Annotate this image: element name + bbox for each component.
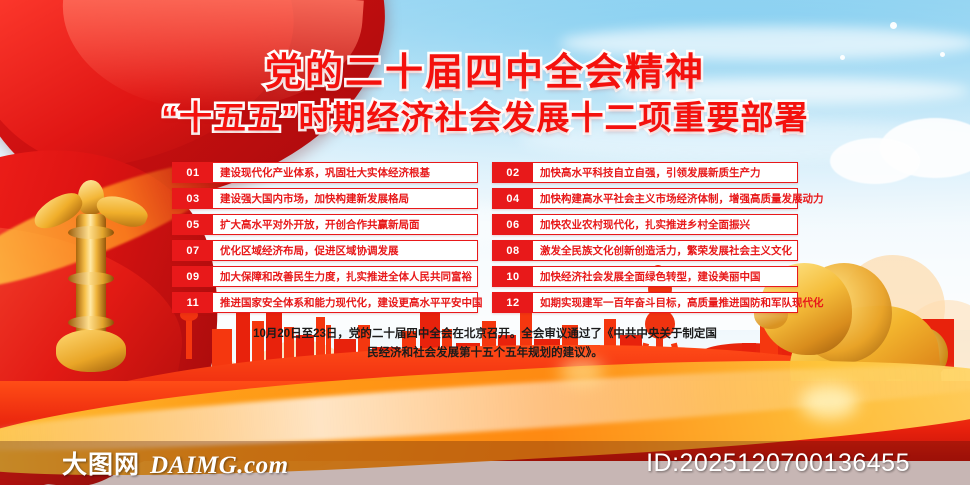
list-item-label: 推进国家安全体系和能力现代化，建设更高水平平安中国 bbox=[213, 293, 486, 312]
list-item[interactable]: 07 优化区域经济布局，促进区域协调发展 bbox=[172, 240, 478, 261]
title-block: 党的二十届四中全会精神 “十五五”时期经济社会发展十二项重要部署 bbox=[0, 52, 970, 137]
list-item-label: 激发全民族文化创新创造活力，繁荣发展社会主义文化 bbox=[533, 241, 797, 260]
list-item-number: 08 bbox=[493, 241, 533, 260]
list-item-number: 07 bbox=[173, 241, 213, 260]
list-item[interactable]: 09 加大保障和改善民生力度，扎实推进全体人民共同富裕 bbox=[172, 266, 478, 287]
watermark-site-en: DAIMG.com bbox=[150, 452, 289, 480]
list-item-number: 09 bbox=[173, 267, 213, 286]
list-item-number: 06 bbox=[493, 215, 533, 234]
list-item-number: 12 bbox=[493, 293, 533, 312]
caption-block: 10月20日至23日，党的二十届四中全会在北京召开。全会审议通过了《中共中央关于… bbox=[225, 325, 745, 363]
list-item[interactable]: 10 加快经济社会发展全面绿色转型，建设美丽中国 bbox=[492, 266, 798, 287]
list-item-number: 03 bbox=[173, 189, 213, 208]
list-item[interactable]: 04 加快构建高水平社会主义市场经济体制，增强高质量发展动力 bbox=[492, 188, 798, 209]
list-item[interactable]: 03 建设强大国内市场，加快构建新发展格局 bbox=[172, 188, 478, 209]
list-item-label: 加快农业农村现代化，扎实推进乡村全面振兴 bbox=[533, 215, 797, 234]
huabiao-ring bbox=[68, 226, 114, 239]
cloud bbox=[830, 138, 920, 184]
caption-line-2: 民经济和社会发展第十五个五年规划的建议》。 bbox=[225, 344, 745, 363]
list-item-label: 建设现代化产业体系，巩固壮大实体经济根基 bbox=[213, 163, 477, 182]
list-item-label: 加快构建高水平社会主义市场经济体制，增强高质量发展动力 bbox=[533, 189, 827, 208]
list-item[interactable]: 11 推进国家安全体系和能力现代化，建设更高水平平安中国 bbox=[172, 292, 478, 313]
watermark-bar: 大图网 DAIMG.com ID:2025120700136455 bbox=[0, 441, 970, 485]
light-glow bbox=[800, 385, 858, 419]
list-item-label: 建设强大国内市场，加快构建新发展格局 bbox=[213, 189, 477, 208]
list-item-label: 加大保障和改善民生力度，扎实推进全体人民共同富裕 bbox=[213, 267, 477, 286]
list-item[interactable]: 06 加快农业农村现代化，扎实推进乡村全面振兴 bbox=[492, 214, 798, 235]
deployment-list: 01 建设现代化产业体系，巩固壮大实体经济根基 02 加快高水平科技自立自强，引… bbox=[172, 162, 798, 313]
list-item-number: 02 bbox=[493, 163, 533, 182]
list-item[interactable]: 02 加快高水平科技自立自强，引领发展新质生产力 bbox=[492, 162, 798, 183]
poster-canvas: 党的二十届四中全会精神 “十五五”时期经济社会发展十二项重要部署 01 建设现代… bbox=[0, 0, 970, 485]
caption-line-1: 10月20日至23日，党的二十届四中全会在北京召开。全会审议通过了《中共中央关于… bbox=[225, 325, 745, 344]
page-title: 党的二十届四中全会精神 bbox=[0, 52, 970, 95]
watermark-site-cn: 大图网 bbox=[62, 445, 140, 481]
sparkle-dot bbox=[890, 22, 897, 29]
huabiao-ring bbox=[68, 272, 114, 285]
list-item-number: 04 bbox=[493, 189, 533, 208]
list-item-label: 优化区域经济布局，促进区域协调发展 bbox=[213, 241, 477, 260]
list-item[interactable]: 08 激发全民族文化创新创造活力，繁荣发展社会主义文化 bbox=[492, 240, 798, 261]
list-item-number: 01 bbox=[173, 163, 213, 182]
list-item-label: 扩大高水平对外开放，开创合作共赢新局面 bbox=[213, 215, 477, 234]
page-subtitle: “十五五”时期经济社会发展十二项重要部署 bbox=[0, 99, 970, 137]
list-item-label: 加快经济社会发展全面绿色转型，建设美丽中国 bbox=[533, 267, 797, 286]
watermark-id: ID:2025120700136455 bbox=[646, 449, 910, 478]
list-item-label: 加快高水平科技自立自强，引领发展新质生产力 bbox=[533, 163, 797, 182]
list-item[interactable]: 05 扩大高水平对外开放，开创合作共赢新局面 bbox=[172, 214, 478, 235]
list-item[interactable]: 12 如期实现建军一百年奋斗目标，高质量推进国防和军队现代化 bbox=[492, 292, 798, 313]
watermark-brand: 大图网 DAIMG.com bbox=[62, 445, 289, 481]
list-item-label: 如期实现建军一百年奋斗目标，高质量推进国防和军队现代化 bbox=[533, 293, 827, 312]
list-item[interactable]: 01 建设现代化产业体系，巩固壮大实体经济根基 bbox=[172, 162, 478, 183]
list-item-number: 11 bbox=[173, 293, 213, 312]
list-item-number: 10 bbox=[493, 267, 533, 286]
list-item-number: 05 bbox=[173, 215, 213, 234]
